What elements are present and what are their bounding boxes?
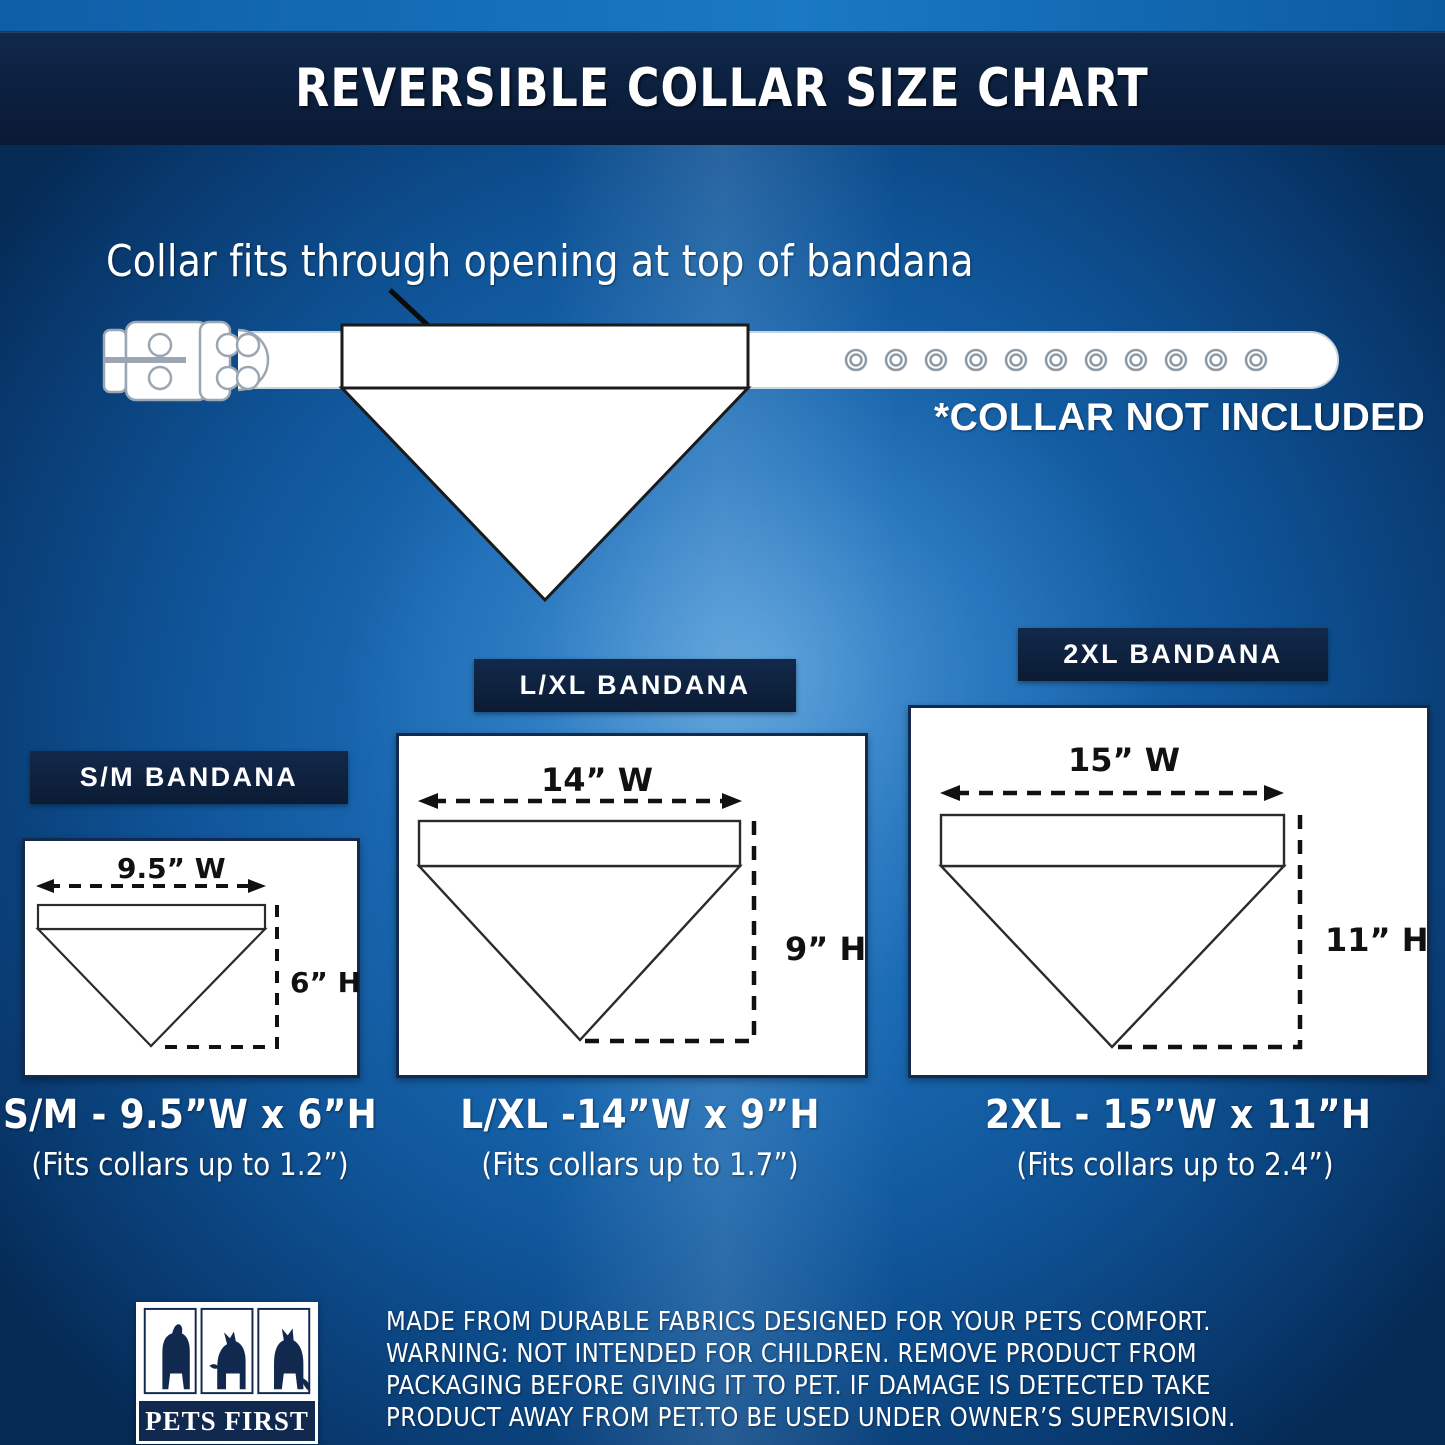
sm-height-label: 6” H <box>290 966 361 999</box>
pets-first-logo: PETS FIRST <box>136 1302 318 1444</box>
badge-sm-label: S/M BANDANA <box>80 762 298 793</box>
lxl-width-label: 14” W <box>541 761 653 799</box>
caption-sm-main: S/M - 9.5”W x 6”H <box>0 1092 380 1138</box>
caption-2xl-main: 2XL - 15”W x 11”H <box>985 1092 1365 1138</box>
collar-not-included-note: *COLLAR NOT INCLUDED <box>934 396 1425 440</box>
caption-sm: S/M - 9.5”W x 6”H (Fits collars up to 1.… <box>0 1092 380 1183</box>
caption-lxl-main: L/XL -14”W x 9”H <box>450 1092 830 1138</box>
disclaimer-line-1: MADE FROM DURABLE FABRICS DESIGNED FOR Y… <box>386 1306 1346 1338</box>
callout-arrow-icon <box>390 290 476 372</box>
disclaimer-line-3: PACKAGING BEFORE GIVING IT TO PET. IF DA… <box>386 1370 1346 1402</box>
caption-2xl: 2XL - 15”W x 11”H (Fits collars up to 2.… <box>985 1092 1365 1183</box>
collar-buckle-icon <box>104 322 268 400</box>
disclaimer-line-2: WARNING: NOT INTENDED FOR CHILDREN. REMO… <box>386 1338 1346 1370</box>
caption-2xl-sub: (Fits collars up to 2.4”) <box>985 1147 1365 1183</box>
caption-lxl: L/XL -14”W x 9”H (Fits collars up to 1.7… <box>450 1092 830 1183</box>
lxl-height-label: 9” H <box>785 930 866 968</box>
logo-dog-silhouettes <box>139 1305 315 1399</box>
2xl-height-label: 11” H <box>1325 921 1428 959</box>
logo-wordmark: PETS FIRST <box>139 1401 315 1441</box>
badge-2xl-label: 2XL BANDANA <box>1063 639 1282 670</box>
callout-text: Collar fits through opening at top of ba… <box>106 236 974 287</box>
collar-holes <box>846 350 1266 370</box>
badge-lxl: L/XL BANDANA <box>474 659 796 712</box>
2xl-width-label: 15” W <box>1068 741 1180 779</box>
sm-width-label: 9.5” W <box>117 852 226 885</box>
top-strip <box>0 0 1445 32</box>
badge-lxl-label: L/XL BANDANA <box>520 670 751 701</box>
badge-sm: S/M BANDANA <box>30 751 348 804</box>
badge-2xl: 2XL BANDANA <box>1018 628 1328 681</box>
disclaimer-line-4: PRODUCT AWAY FROM PET.TO BE USED UNDER O… <box>386 1402 1346 1434</box>
page-title: REVERSIBLE COLLAR SIZE CHART <box>296 58 1150 119</box>
size-chart-infographic: REVERSIBLE COLLAR SIZE CHART Collar fits… <box>0 0 1445 1445</box>
header-band: REVERSIBLE COLLAR SIZE CHART <box>0 32 1445 145</box>
caption-sm-sub: (Fits collars up to 1.2”) <box>0 1147 380 1183</box>
caption-lxl-sub: (Fits collars up to 1.7”) <box>450 1147 830 1183</box>
bandana-shape <box>342 325 748 600</box>
disclaimer-text: MADE FROM DURABLE FABRICS DESIGNED FOR Y… <box>386 1306 1346 1434</box>
